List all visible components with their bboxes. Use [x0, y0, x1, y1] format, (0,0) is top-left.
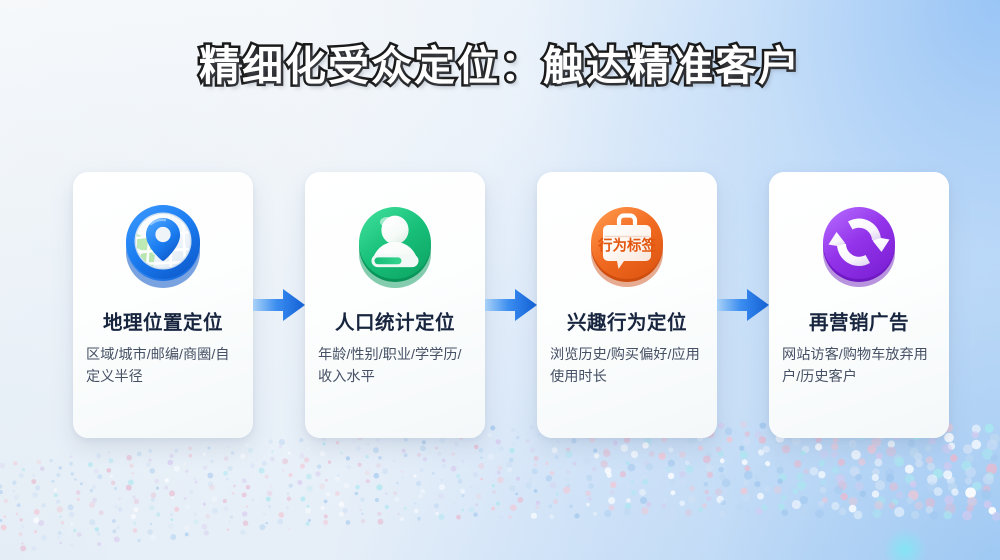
flow-arrow-3 [717, 172, 769, 438]
page-title: 精细化受众定位：触达精准客户 [199, 42, 801, 90]
flow-card-demographics[interactable]: 人口统计定位 年龄/性别/职业/学学历/收入水平 [305, 172, 485, 438]
flow-card-desc: 年龄/性别/职业/学学历/收入水平 [318, 344, 472, 388]
flow-card-geo[interactable]: 地理位置定位 区域/城市/邮编/商圈/自定义半径 [73, 172, 253, 438]
behavior-tag-badge-text: 行为标签 [597, 237, 656, 255]
flow-card-desc: 区域/城市/邮编/商圈/自定义半径 [86, 344, 240, 388]
page-title-wrap: 精细化受众定位：触达精准客户 [0, 42, 1000, 90]
retargeting-refresh-icon [807, 194, 911, 298]
user-demographics-icon [343, 194, 447, 298]
flow-card-interest[interactable]: 行为标签 兴趣行为定位 浏览历史/购买偏好/应用使用时长 [537, 172, 717, 438]
flow-card-desc: 浏览历史/购买偏好/应用使用时长 [550, 344, 704, 388]
flow-arrow-1 [253, 172, 305, 438]
process-flow: 地理位置定位 区域/城市/邮编/商圈/自定义半径 [73, 172, 927, 438]
flow-card-retargeting[interactable]: 再营销广告 网站访客/购物车放弃用户/历史客户 [769, 172, 949, 438]
dot-wave-decoration [0, 420, 1000, 560]
behavior-tag-briefcase-icon: 行为标签 [575, 194, 679, 298]
flow-card-title: 地理位置定位 [103, 312, 223, 335]
flow-card-desc: 网站访客/购物车放弃用户/历史客户 [782, 344, 936, 388]
slide-canvas: 精细化受众定位：触达精准客户 [0, 0, 1000, 560]
map-pin-location-icon [111, 194, 215, 298]
flow-card-title: 人口统计定位 [335, 312, 455, 335]
flow-arrow-2 [485, 172, 537, 438]
flow-card-title: 兴趣行为定位 [567, 312, 687, 335]
flow-card-title: 再营销广告 [809, 312, 909, 335]
